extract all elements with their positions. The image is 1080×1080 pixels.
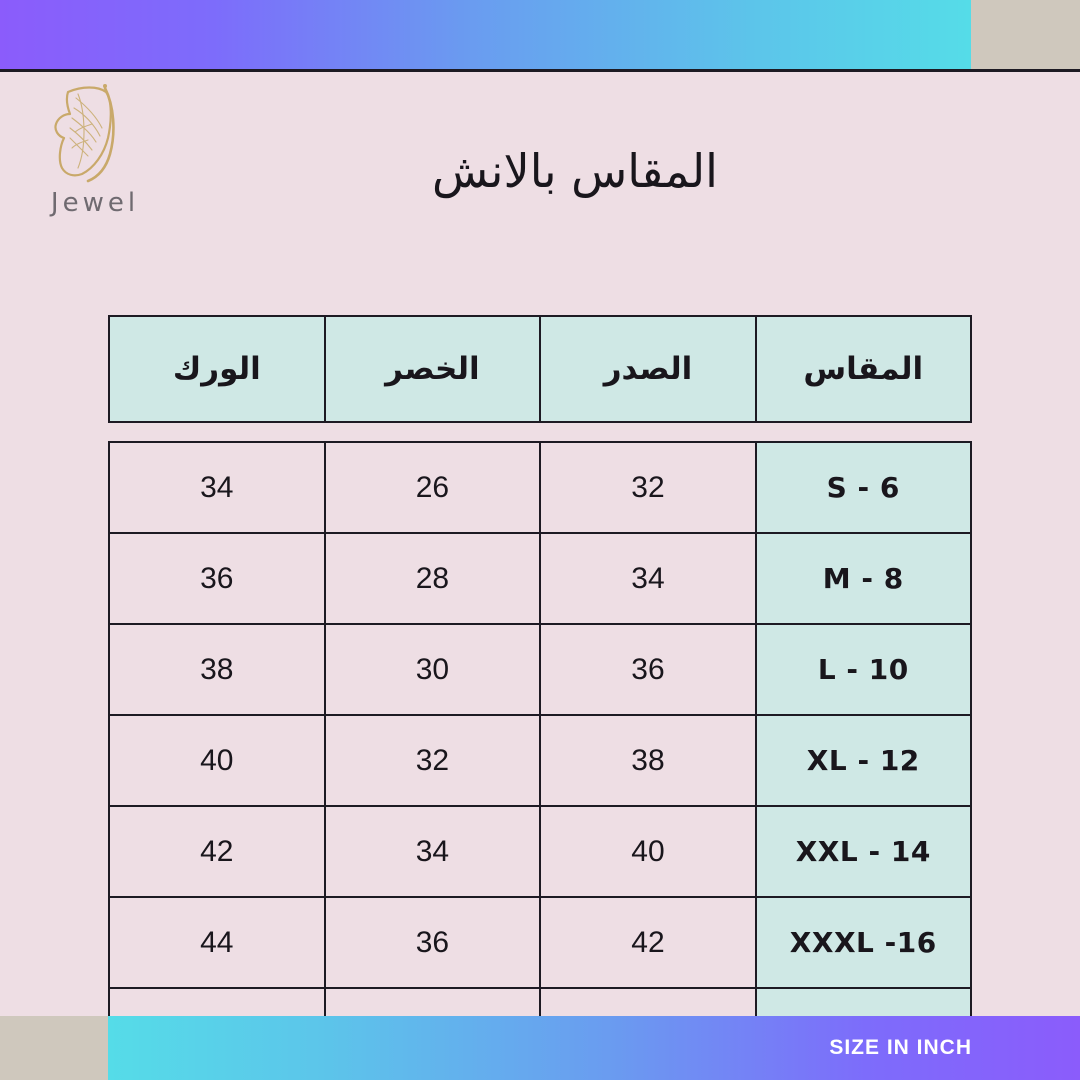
table-row: M - 8 34 28 36 xyxy=(109,533,971,624)
size-chart-header-table: المقاس الصدر الخصر الورك xyxy=(108,315,972,423)
cell-waist: 30 xyxy=(325,624,541,715)
size-chart-page: Jewel المقاس بالانش المقاس الصدر الخصر ا… xyxy=(0,0,1080,1080)
cell-waist: 26 xyxy=(325,442,541,533)
table-row: XXL - 14 40 34 42 xyxy=(109,806,971,897)
brand-name: Jewel xyxy=(30,188,160,218)
page-title: المقاس بالانش xyxy=(180,144,970,198)
cell-size: XL - 12 xyxy=(756,715,971,806)
cell-waist: 28 xyxy=(325,533,541,624)
cell-waist: 34 xyxy=(325,806,541,897)
cell-chest: 36 xyxy=(540,624,756,715)
table-header-row: المقاس الصدر الخصر الورك xyxy=(109,316,971,422)
cell-size: L - 10 xyxy=(756,624,971,715)
size-chart-data-table: S - 6 32 26 34 M - 8 34 28 36 L - 10 36 … xyxy=(108,441,972,1080)
cell-size: XXL - 14 xyxy=(756,806,971,897)
table-row: XXXL -16 42 36 44 xyxy=(109,897,971,988)
top-gradient-fill xyxy=(0,0,971,70)
cell-size: S - 6 xyxy=(756,442,971,533)
table-row: XL - 12 38 32 40 xyxy=(109,715,971,806)
cell-hip: 44 xyxy=(109,897,325,988)
cell-hip: 36 xyxy=(109,533,325,624)
cell-hip: 40 xyxy=(109,715,325,806)
butterfly-wing-icon xyxy=(48,80,138,185)
cell-chest: 38 xyxy=(540,715,756,806)
column-header-hip: الورك xyxy=(109,316,325,422)
table-row: S - 6 32 26 34 xyxy=(109,442,971,533)
cell-waist: 32 xyxy=(325,715,541,806)
cell-hip: 42 xyxy=(109,806,325,897)
top-gradient-bar xyxy=(0,0,1080,70)
cell-chest: 42 xyxy=(540,897,756,988)
cell-size: XXXL -16 xyxy=(756,897,971,988)
cell-chest: 32 xyxy=(540,442,756,533)
footer-gradient-bar: SIZE IN INCH xyxy=(0,1016,1080,1080)
column-header-waist: الخصر xyxy=(325,316,541,422)
table-row: L - 10 36 30 38 xyxy=(109,624,971,715)
column-header-size: المقاس xyxy=(756,316,971,422)
cell-waist: 36 xyxy=(325,897,541,988)
cell-chest: 40 xyxy=(540,806,756,897)
column-header-chest: الصدر xyxy=(540,316,756,422)
brand-logo: Jewel xyxy=(30,80,160,225)
cell-chest: 34 xyxy=(540,533,756,624)
page-body: Jewel المقاس بالانش المقاس الصدر الخصر ا… xyxy=(0,72,1080,1016)
cell-hip: 34 xyxy=(109,442,325,533)
cell-size: M - 8 xyxy=(756,533,971,624)
cell-hip: 38 xyxy=(109,624,325,715)
footer-unit-label: SIZE IN INCH xyxy=(829,1036,972,1060)
